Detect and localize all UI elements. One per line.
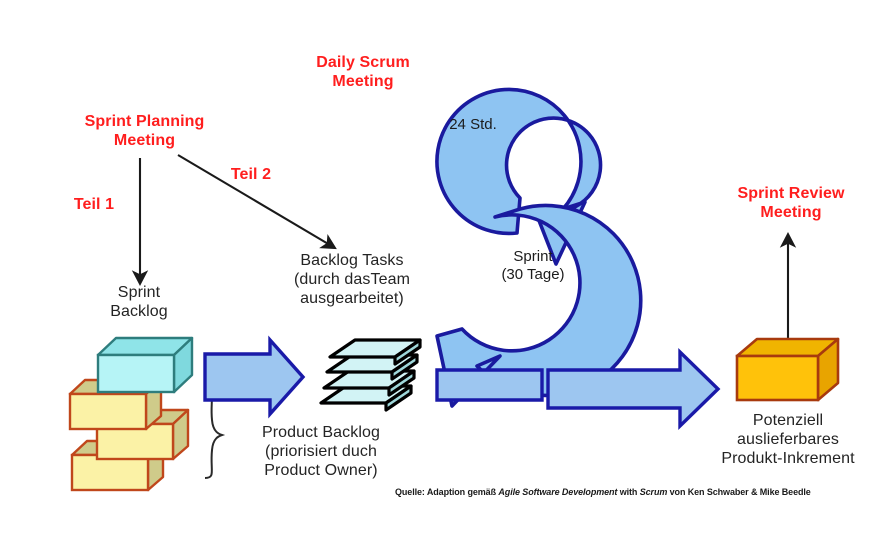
sprint-cycle-tail-left <box>437 370 542 400</box>
product-backlog-brace <box>205 392 222 478</box>
backlog-tasks-label: Backlog Tasks (durch dasTeam ausgearbeit… <box>266 252 438 309</box>
backlog-tasks-paper-stack <box>321 340 420 410</box>
source-middle: with <box>617 487 639 497</box>
daily-scrum-label: Daily Scrum Meeting <box>288 54 438 92</box>
sprint-review-label: Sprint Review Meeting <box>716 185 866 223</box>
sprint-planning-label: Sprint Planning Meeting <box>62 113 227 151</box>
arrow-backlog-to-tasks <box>205 340 303 414</box>
sprint-cycle-duration-label: Sprint (30 Tage) <box>473 248 593 284</box>
product-backlog-stack <box>70 380 188 490</box>
source-work-title-2: Scrum <box>640 487 668 497</box>
source-prefix: Quelle: Adaption gemäß <box>395 487 498 497</box>
sprint-backlog-label: Sprint Backlog <box>89 284 189 322</box>
teil-2-label: Teil 2 <box>221 166 281 185</box>
daily-cycle-duration-label: 24 Std. <box>418 116 528 134</box>
product-increment-block <box>737 339 838 400</box>
teil-1-label: Teil 1 <box>64 196 124 215</box>
source-citation: Quelle: Adaption gemäß Agile Software De… <box>395 487 811 497</box>
product-backlog-label: Product Backlog (priorisiert duch Produc… <box>235 424 407 481</box>
product-increment-label: Potenziell auslieferbares Produkt-Inkrem… <box>693 412 883 469</box>
sprint-backlog-block <box>98 338 192 392</box>
scrum-diagram-canvas: Daily Scrum Meeting Sprint Planning Meet… <box>0 0 885 543</box>
source-suffix: von Ken Schwaber & Mike Beedle <box>667 487 810 497</box>
source-work-title-1: Agile Software Development <box>498 487 617 497</box>
